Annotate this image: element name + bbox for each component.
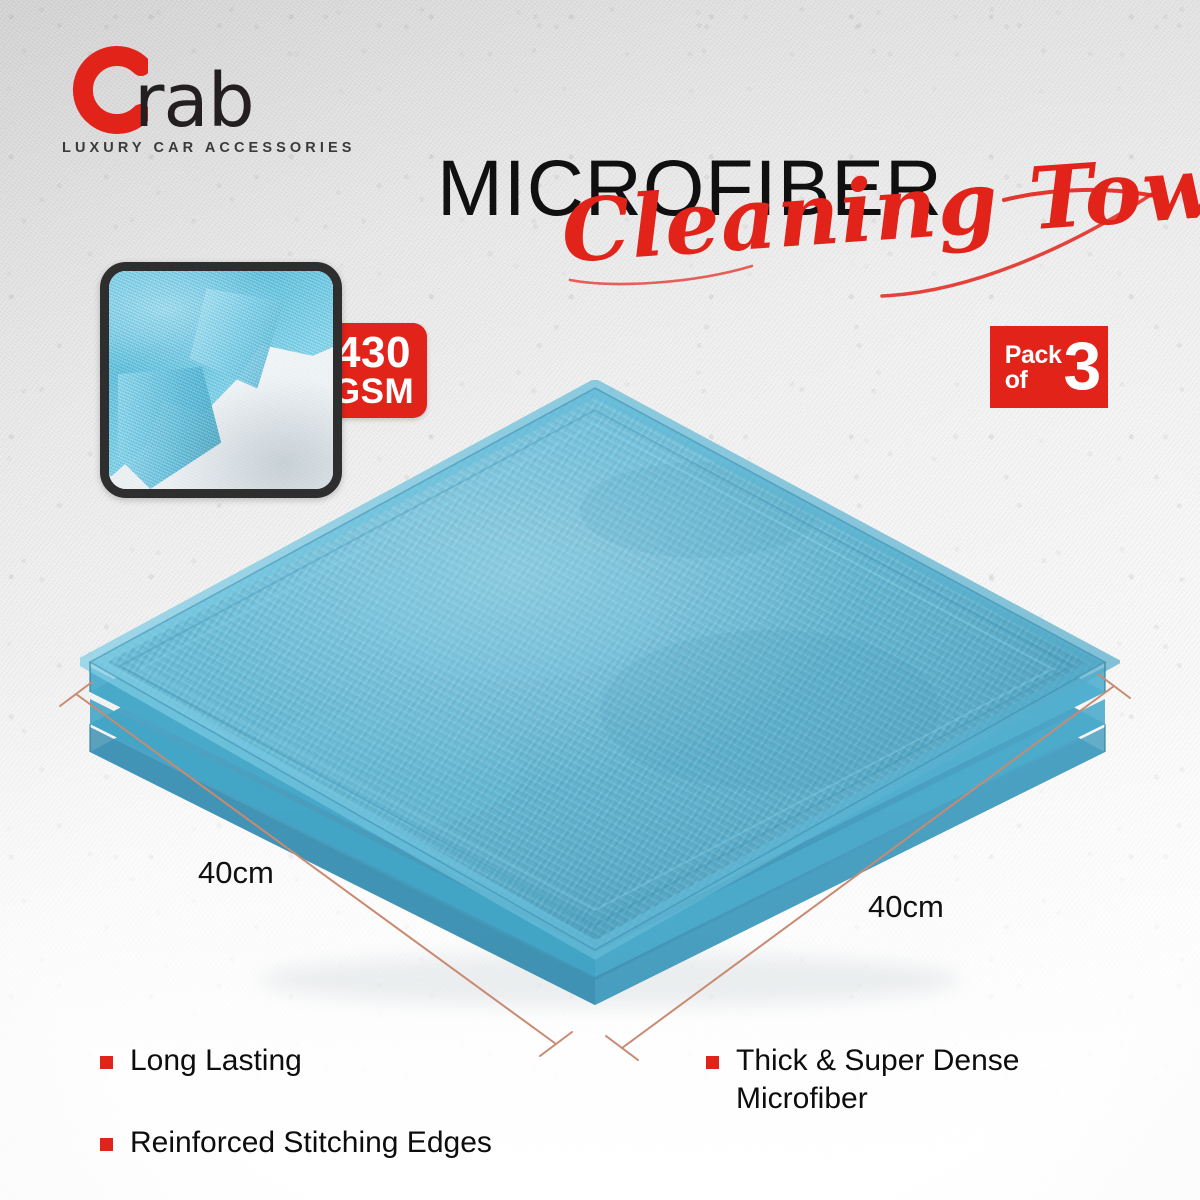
pack-badge-line1: Pack: [1005, 343, 1062, 368]
brand-logo: rab LUXURY CAR ACCESSORIES: [62, 42, 362, 156]
feature-list-left: Long Lasting Reinforced Stitching Edges: [100, 1042, 640, 1200]
pack-of-3-badge: Pack of 3: [990, 326, 1108, 408]
headline-block: MICROFIBER Cleaning Towel: [437, 148, 1177, 298]
bullet-square-icon: [100, 1056, 113, 1069]
pack-badge-words: Pack of: [1005, 341, 1062, 393]
feature-item: Long Lasting: [100, 1042, 640, 1080]
feature-label: Thick & Super Dense Microfiber: [736, 1042, 1019, 1118]
feature-item: Reinforced Stitching Edges: [100, 1124, 640, 1162]
bullet-square-icon: [706, 1056, 719, 1069]
pack-badge-line2: of: [1005, 368, 1062, 393]
feature-label: Long Lasting: [130, 1042, 302, 1080]
feature-list-right: Thick & Super Dense Microfiber: [706, 1042, 1146, 1162]
pack-badge-count: 3: [1063, 332, 1099, 402]
feature-item: Thick & Super Dense Microfiber: [706, 1042, 1146, 1118]
bullet-square-icon: [100, 1138, 113, 1151]
microfiber-closeup-photo: [100, 262, 342, 498]
feature-label: Reinforced Stitching Edges: [130, 1124, 492, 1162]
logo-wordmark: rab: [134, 64, 254, 138]
logo-mark: rab: [62, 42, 362, 138]
product-image-canvas: rab LUXURY CAR ACCESSORIES MICROFIBER Cl…: [0, 0, 1200, 1200]
inset-drop-shadow: [109, 271, 333, 489]
